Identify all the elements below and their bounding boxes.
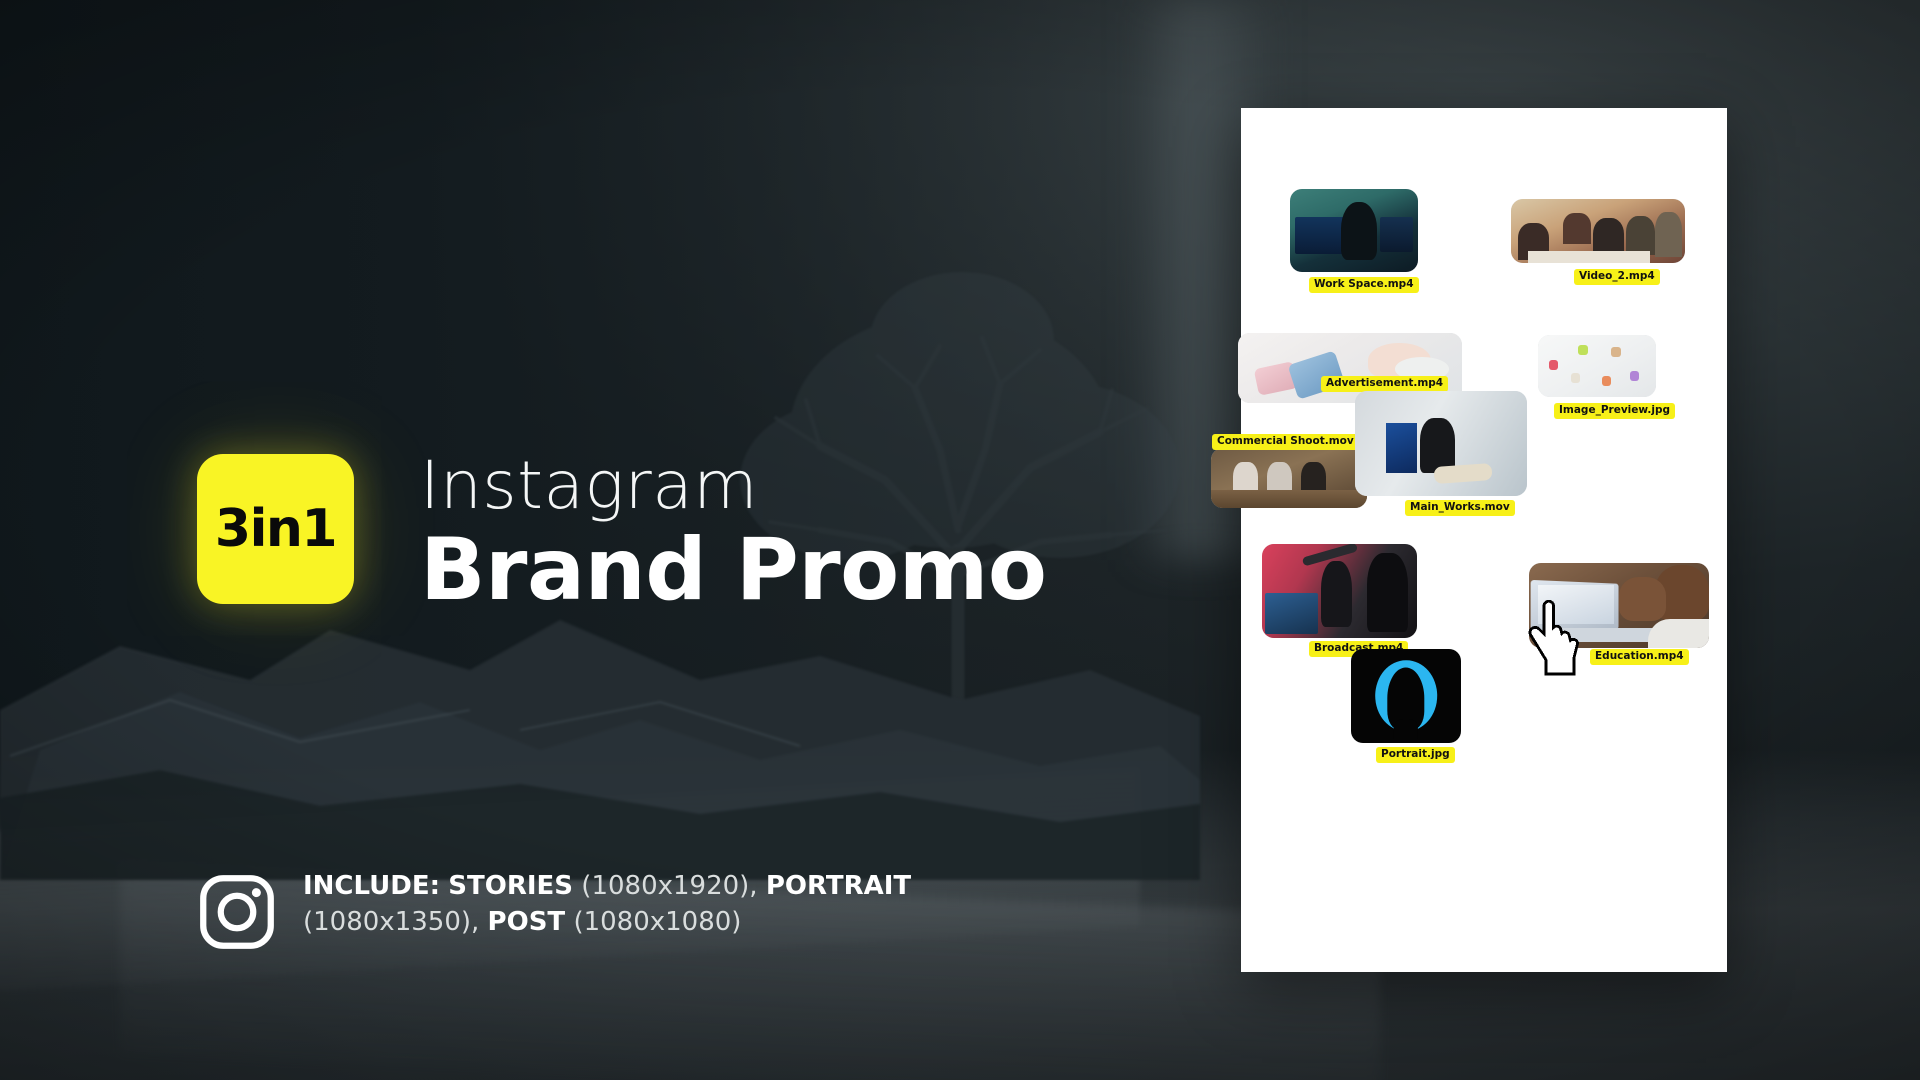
media-label-portrait: Portrait.jpg [1376,747,1455,763]
media-label-video-2: Video_2.mp4 [1574,269,1660,285]
instagram-icon [197,872,277,952]
media-label-image-preview: Image_Preview.jpg [1554,403,1675,419]
thumb-art-image-preview [1538,335,1656,397]
media-thumb-commercial-shoot[interactable] [1211,448,1367,508]
include-row: INCLUDE: STORIES (1080x1920), PORTRAIT (… [197,868,1063,952]
pointing-hand-cursor [1520,600,1586,680]
media-panel: Work Space.mp4 Video_2.mp4 Advertisement… [1241,108,1727,972]
thumb-art-video-2 [1511,199,1685,263]
format-2-name: PORTRAIT [766,871,911,901]
count-badge-label: 3in1 [215,499,336,559]
format-3-name: POST [488,907,566,937]
media-label-education: Education.mp4 [1590,649,1689,665]
media-label-work-space: Work Space.mp4 [1309,277,1419,293]
thumb-art-portrait [1351,649,1461,743]
thumb-art-main-works [1355,391,1527,496]
media-thumb-broadcast[interactable] [1262,544,1417,638]
media-thumb-video-2[interactable] [1511,199,1685,263]
format-3-size: (1080x1080) [573,907,741,937]
title-line-1: Instagram [420,452,1046,520]
include-prefix: INCLUDE: [303,871,440,901]
page-title: Instagram Brand Promo [420,452,1046,616]
media-label-advertisement: Advertisement.mp4 [1321,376,1448,392]
thumb-art-broadcast [1262,544,1417,638]
media-label-main-works: Main_Works.mov [1405,500,1515,516]
title-line-2: Brand Promo [420,524,1046,616]
media-thumb-main-works[interactable] [1355,391,1527,496]
include-text: INCLUDE: STORIES (1080x1920), PORTRAIT (… [303,868,1063,940]
media-label-commercial-shoot: Commercial Shoot.mov [1212,434,1359,450]
format-1-name: STORIES [448,871,573,901]
promo-slide: 3in1 Instagram Brand Promo INCLUDE: STOR… [0,0,1920,1080]
count-badge: 3in1 [197,454,354,604]
thumb-art-work-space [1290,189,1418,272]
format-1-size: (1080x1920), [581,871,757,901]
media-thumb-image-preview[interactable] [1538,335,1656,397]
media-thumb-work-space[interactable] [1290,189,1418,272]
thumb-art-commercial-shoot [1211,448,1367,508]
media-thumb-portrait[interactable] [1351,649,1461,743]
format-2-size: (1080x1350), [303,907,479,937]
